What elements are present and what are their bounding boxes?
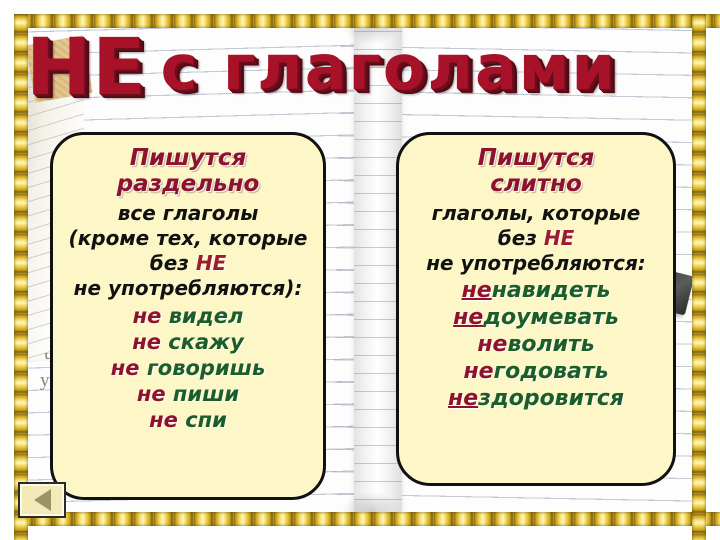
right-panel-body: глаголы, которые без НЕ не употребляются… bbox=[407, 201, 665, 276]
right-body-ne-highlight: НЕ bbox=[544, 226, 574, 250]
word-prefix-ne: не bbox=[477, 332, 507, 357]
example-particle: не bbox=[132, 330, 161, 354]
word-row: нездоровится bbox=[407, 385, 665, 412]
word-stem: здоровится bbox=[478, 386, 624, 411]
page-title: НЕ с глаголами bbox=[26, 22, 704, 114]
example-particle: не bbox=[111, 356, 140, 380]
left-heading-line-1: Пишутся bbox=[61, 145, 315, 171]
example-row: не спи bbox=[61, 407, 315, 433]
word-stem: годовать bbox=[494, 359, 609, 384]
word-stem: волить bbox=[507, 332, 594, 357]
word-prefix-ne: не bbox=[448, 386, 478, 411]
example-row: не пиши bbox=[61, 381, 315, 407]
example-row: не скажу bbox=[61, 329, 315, 355]
left-panel-body: все глаголы (кроме тех, которые без НЕ н… bbox=[61, 201, 315, 301]
word-stem: доумевать bbox=[483, 305, 619, 330]
word-row: недоумевать bbox=[407, 304, 665, 331]
left-heading-line-2: раздельно bbox=[61, 171, 315, 197]
left-panel-heading: Пишутся раздельно bbox=[61, 145, 315, 197]
example-verb: спи bbox=[185, 408, 227, 432]
word-prefix-ne: не bbox=[462, 278, 492, 303]
left-panel-examples: не видел не скажу не говоришь не пиши не… bbox=[61, 303, 315, 433]
example-verb: говоришь bbox=[147, 356, 265, 380]
example-verb: видел bbox=[169, 304, 244, 328]
right-body-line-1: глаголы, которые bbox=[407, 201, 665, 226]
previous-slide-button[interactable] bbox=[18, 482, 66, 518]
right-body-line-3: не употребляются: bbox=[407, 251, 665, 276]
example-verb: скажу bbox=[168, 330, 243, 354]
panel-joined-spelling: Пишутся слитно глаголы, которые без НЕ н… bbox=[396, 132, 676, 486]
panel-separate-spelling: Пишутся раздельно все глаголы (кроме тех… bbox=[50, 132, 326, 500]
right-heading-line-2: слитно bbox=[407, 171, 665, 197]
left-body-line-1: все глаголы bbox=[61, 201, 315, 226]
right-body-line-2-prefix: без bbox=[498, 226, 544, 250]
slide-root: ч уч НЕ с глаголами Пишутся раздельно вс… bbox=[0, 0, 720, 540]
title-word-rest: с глаголами bbox=[161, 37, 617, 99]
example-particle: не bbox=[137, 382, 166, 406]
right-panel-word-list: ненавидеть недоумевать неволить негодова… bbox=[407, 277, 665, 412]
left-body-line-2: (кроме тех, которые bbox=[61, 226, 315, 251]
word-row: неволить bbox=[407, 331, 665, 358]
example-verb: пиши bbox=[173, 382, 239, 406]
triangle-left-icon bbox=[34, 489, 51, 511]
right-body-line-2: без НЕ bbox=[407, 226, 665, 251]
left-body-line-3: без НЕ bbox=[61, 251, 315, 276]
left-body-ne-highlight: НЕ bbox=[196, 251, 226, 275]
example-particle: не bbox=[133, 304, 162, 328]
example-row: не говоришь bbox=[61, 355, 315, 381]
example-row: не видел bbox=[61, 303, 315, 329]
right-panel-heading: Пишутся слитно bbox=[407, 145, 665, 197]
word-stem: навидеть bbox=[492, 278, 611, 303]
example-particle: не bbox=[149, 408, 178, 432]
left-body-line-4: не употребляются): bbox=[61, 276, 315, 301]
word-row: негодовать bbox=[407, 358, 665, 385]
right-heading-line-1: Пишутся bbox=[407, 145, 665, 171]
spine-shadow-bottom bbox=[342, 492, 402, 526]
left-body-line-3-prefix: без bbox=[150, 251, 196, 275]
word-prefix-ne: не bbox=[453, 305, 483, 330]
word-row: ненавидеть bbox=[407, 277, 665, 304]
word-prefix-ne: не bbox=[463, 359, 493, 384]
title-word-ne: НЕ bbox=[26, 30, 147, 106]
